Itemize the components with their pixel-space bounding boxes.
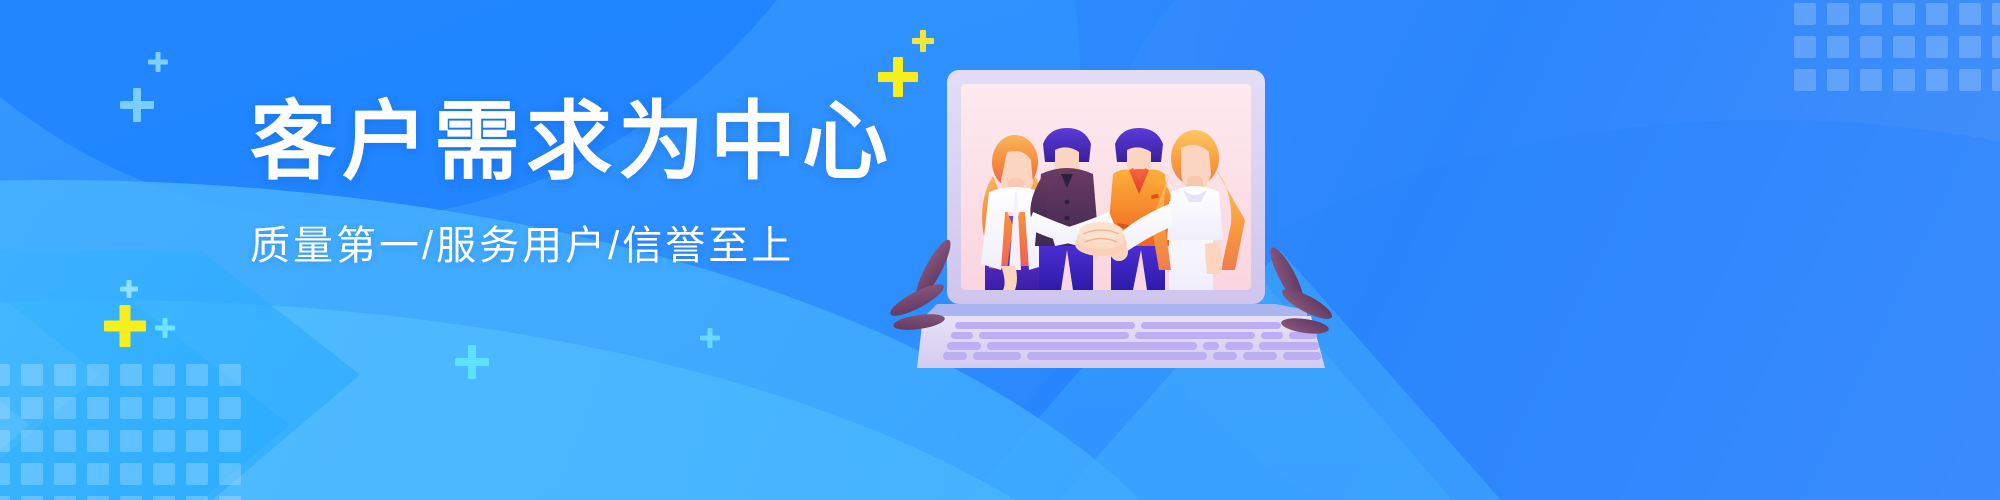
chevron-decoration bbox=[0, 250, 360, 500]
square-grid-bottom-left bbox=[0, 364, 241, 500]
plus-icon bbox=[878, 57, 918, 97]
stacked-hands bbox=[1075, 222, 1127, 256]
plus-icon bbox=[155, 318, 175, 338]
banner-subheadline: 质量第一/服务用户/信誉至上 bbox=[250, 213, 870, 271]
plus-icon bbox=[455, 345, 489, 379]
banner-copy: 客户需求为中心 质量第一/服务用户/信誉至上 bbox=[250, 96, 870, 271]
chevron-decoration bbox=[0, 300, 290, 500]
laptop-base bbox=[917, 304, 1325, 368]
banner-headline: 客户需求为中心 bbox=[250, 96, 870, 189]
plus-icon bbox=[700, 328, 720, 348]
plus-icon bbox=[120, 280, 138, 298]
plus-icon bbox=[120, 88, 154, 122]
plus-icon bbox=[912, 30, 934, 52]
plus-icon bbox=[104, 305, 146, 347]
square-grid-top-right bbox=[1794, 0, 2000, 91]
laptop-illustration bbox=[915, 52, 1335, 382]
plus-icon bbox=[148, 52, 168, 72]
promo-banner: 客户需求为中心 质量第一/服务用户/信誉至上 bbox=[0, 0, 2000, 500]
